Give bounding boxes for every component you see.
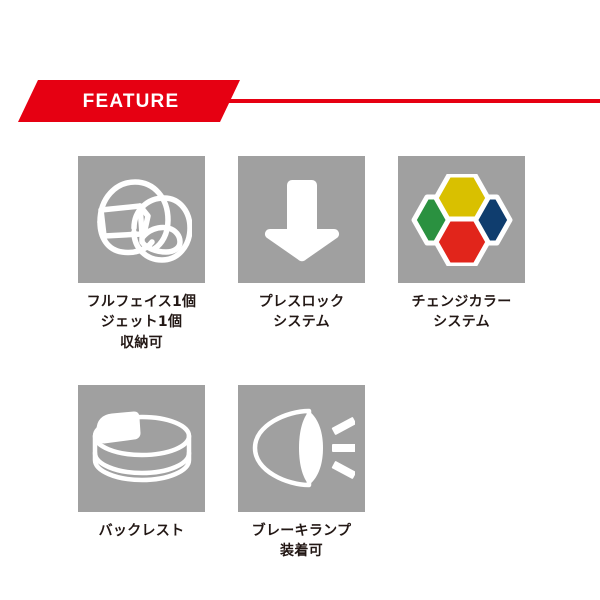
feature-item-helmet-capacity[interactable]: フルフェイス1個 ジェット1個 収納可: [78, 156, 205, 353]
backrest-case-icon: [90, 408, 194, 488]
feature-item-brake-lamp[interactable]: ブレーキランプ 装着可: [238, 385, 365, 562]
two-helmets-icon: [92, 172, 192, 268]
feature-label: バックレスト: [99, 521, 185, 541]
header-accent-line: [225, 99, 600, 103]
feature-row: フルフェイス1個 ジェット1個 収納可 プレスロック システム: [78, 156, 538, 353]
color-hexagons-icon: [406, 174, 518, 266]
feature-row: バックレスト ブレーキランプ 装着可: [78, 385, 538, 562]
feature-icon-box: [398, 156, 525, 283]
feature-item-press-lock[interactable]: プレスロック システム: [238, 156, 365, 353]
brake-lamp-icon: [249, 405, 355, 491]
feature-icon-box: [238, 156, 365, 283]
feature-label: ブレーキランプ 装着可: [252, 521, 352, 562]
feature-item-change-color[interactable]: チェンジカラー システム: [398, 156, 525, 353]
feature-label: プレスロック システム: [259, 292, 345, 333]
down-arrow-icon: [259, 174, 345, 266]
section-header: FEATURE: [0, 80, 600, 122]
feature-icon-box: [238, 385, 365, 512]
header-tag: FEATURE: [18, 80, 240, 122]
feature-label: フルフェイス1個 ジェット1個 収納可: [87, 292, 197, 353]
page-title: FEATURE: [79, 92, 180, 111]
feature-section: FEATURE: [0, 0, 600, 600]
feature-cell-empty: [398, 385, 525, 562]
feature-icon-box: [78, 156, 205, 283]
feature-label: チェンジカラー システム: [411, 292, 511, 333]
feature-icon-box: [78, 385, 205, 512]
feature-item-backrest[interactable]: バックレスト: [78, 385, 205, 562]
feature-grid: フルフェイス1個 ジェット1個 収納可 プレスロック システム: [78, 156, 538, 561]
